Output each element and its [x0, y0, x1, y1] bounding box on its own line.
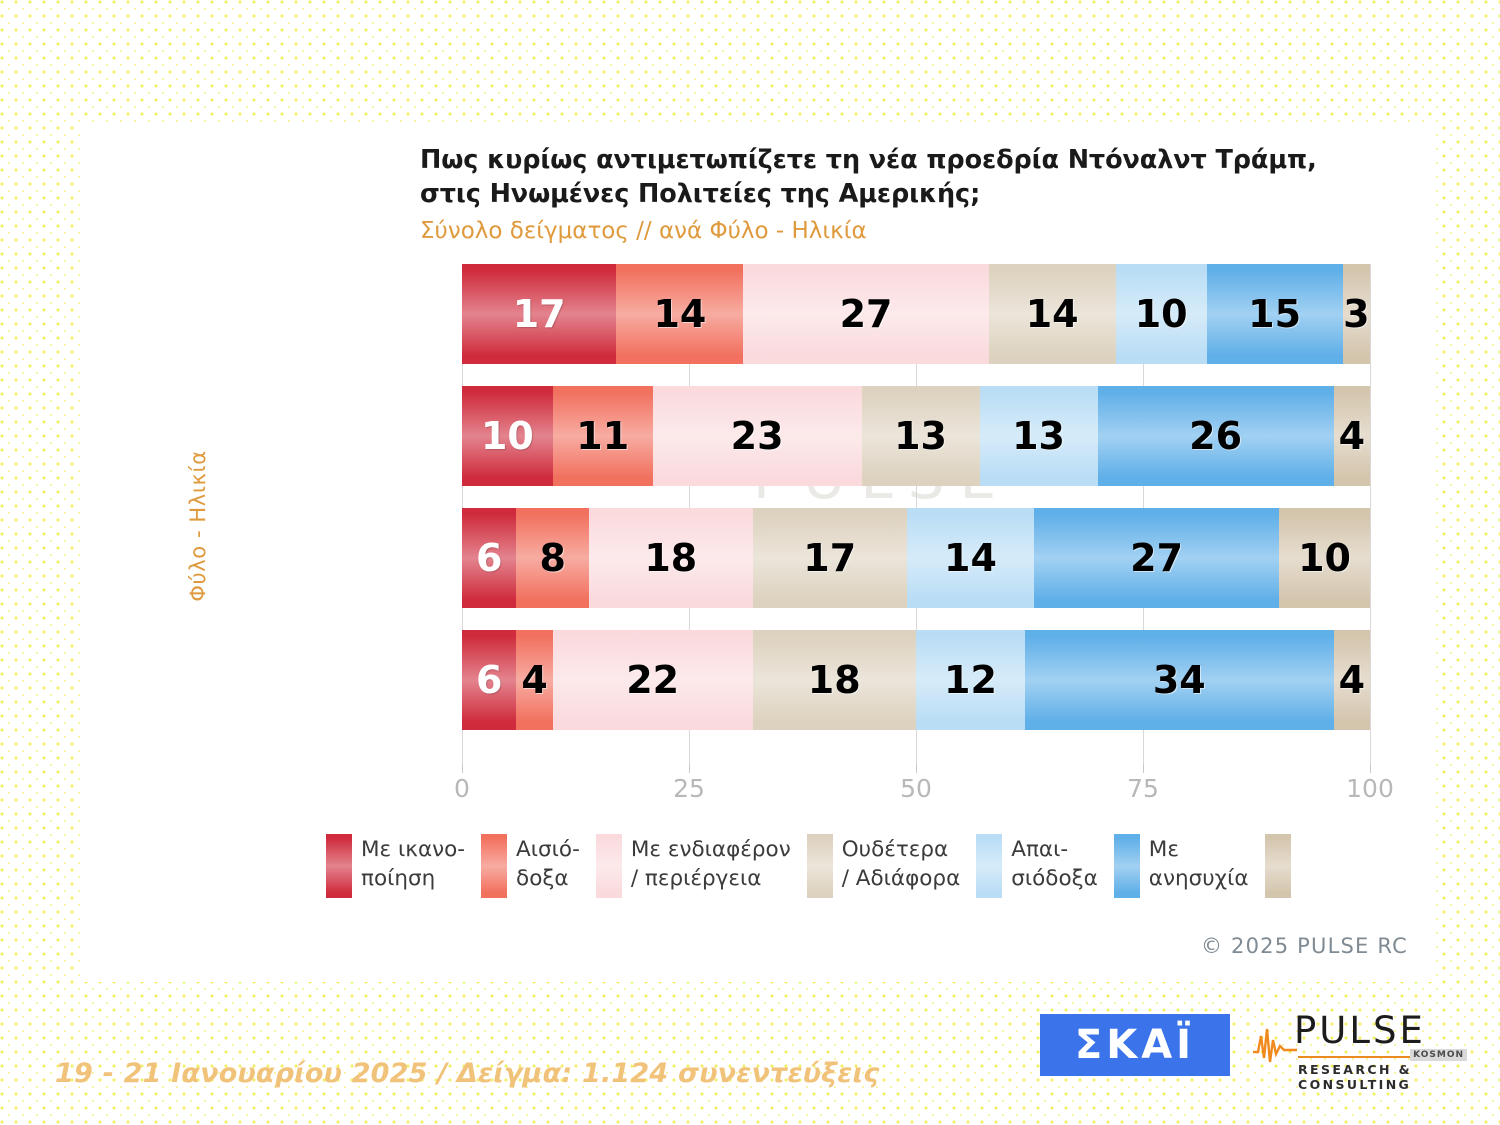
bar-segment[interactable]: 13	[862, 386, 980, 486]
bar-segment-value: 3	[1343, 295, 1369, 333]
legend-label: Ουδέτερα / Αδιάφορα	[842, 834, 961, 893]
gridline-100	[1370, 264, 1371, 764]
x-axis: 0255075100	[462, 764, 1370, 810]
bar-segment-value: 11	[576, 417, 629, 455]
bar-segment-value: 14	[944, 539, 997, 577]
bar-segment[interactable]: 4	[516, 630, 552, 730]
bar-segment[interactable]: 15	[1207, 264, 1343, 364]
bar-segment-value: 6	[476, 539, 502, 577]
bar-segment[interactable]: 10	[1279, 508, 1370, 608]
legend-item[interactable]	[1265, 834, 1300, 898]
bar-segment-value: 10	[1298, 539, 1351, 577]
legend-label: Με ικανο- ποίηση	[361, 834, 465, 893]
title-block: Πως κυρίως αντιμετωπίζετε τη νέα προεδρί…	[420, 144, 1340, 244]
legend-swatch	[326, 834, 352, 898]
x-axis-tick	[689, 764, 690, 773]
x-axis-tick-label: 100	[1346, 774, 1394, 803]
bar-segment-value: 17	[803, 539, 856, 577]
bar-segment-value: 4	[1339, 417, 1365, 455]
bar-segment-value: 8	[540, 539, 566, 577]
x-axis-tick	[1143, 764, 1144, 773]
bar-row: 1714271410153	[462, 264, 1370, 364]
bar-segment-value: 6	[476, 661, 502, 699]
legend-swatch	[1265, 834, 1291, 898]
x-axis-tick	[916, 764, 917, 773]
bar-segment-value: 10	[481, 417, 534, 455]
logo-row: ΣΚΑΪ PULSE KOSMON RESEARCH & CONSULTING	[1040, 1012, 1467, 1078]
legend-item[interactable]: Με ικανο- ποίηση	[326, 834, 465, 898]
pulse-waveform-icon	[1252, 1024, 1298, 1066]
bar-segment-value: 18	[808, 661, 861, 699]
x-axis-tick-label: 50	[900, 774, 932, 803]
pulse-logo-text: PULSE	[1294, 1012, 1426, 1049]
bar-segment[interactable]: 18	[753, 630, 916, 730]
bar-segment[interactable]: 4	[1334, 630, 1370, 730]
bar-segment[interactable]: 10	[462, 386, 553, 486]
bar-segment-value: 4	[1339, 661, 1365, 699]
chart-legend: Με ικανο- ποίησηΑισιό- δοξαΜε ενδιαφέρον…	[326, 834, 1316, 898]
x-axis-tick-label: 0	[454, 774, 470, 803]
bar-segment[interactable]: 13	[980, 386, 1098, 486]
bar-segment[interactable]: 4	[1334, 386, 1370, 486]
legend-item[interactable]: Απαι- σιόδοξα	[976, 834, 1098, 898]
bar-row: 64221812344	[462, 630, 1370, 730]
chart-subtitle: Σύνολο δείγματος // ανά Φύλο - Ηλικία	[420, 218, 1340, 244]
bar-segment[interactable]: 14	[989, 264, 1116, 364]
bar-segment-value: 4	[521, 661, 547, 699]
legend-label: Με ανησυχία	[1149, 834, 1249, 893]
legend-item[interactable]: Αισιό- δοξα	[481, 834, 580, 898]
bar-segment[interactable]: 27	[743, 264, 988, 364]
chart-title-line-2: στις Ηνωμένες Πολιτείες της Αμερικής;	[420, 178, 1340, 212]
legend-item[interactable]: Με ανησυχία	[1114, 834, 1249, 898]
bar-segment-value: 27	[840, 295, 893, 333]
bar-segment[interactable]: 17	[753, 508, 907, 608]
y-axis-title: Φύλο - Ηλικία	[186, 396, 210, 656]
stacked-bar-rows: 1714271410153101123131326468181714271064…	[462, 264, 1370, 764]
bar-row: 681817142710	[462, 508, 1370, 608]
bar-segment[interactable]: 18	[589, 508, 752, 608]
bar-segment[interactable]: 6	[462, 630, 516, 730]
skai-logo: ΣΚΑΪ	[1040, 1014, 1230, 1076]
bar-segment-value: 26	[1189, 417, 1242, 455]
bar-segment[interactable]: 3	[1343, 264, 1370, 364]
bar-segment[interactable]: 23	[653, 386, 862, 486]
bar-segment[interactable]: 27	[1034, 508, 1279, 608]
copyright-text: © 2025 PULSE RC	[1201, 934, 1408, 958]
pulse-tagline-text: RESEARCH & CONSULTING	[1298, 1062, 1467, 1092]
bar-segment[interactable]: 11	[553, 386, 653, 486]
bar-segment[interactable]: 14	[616, 264, 743, 364]
legend-label: Με ενδιαφέρον / περιέργεια	[631, 834, 791, 893]
bar-segment-value: 17	[513, 295, 566, 333]
bar-segment[interactable]: 6	[462, 508, 516, 608]
bar-segment[interactable]: 8	[516, 508, 589, 608]
skai-logo-text: ΣΚΑΪ	[1075, 1025, 1195, 1065]
legend-item[interactable]: Ουδέτερα / Αδιάφορα	[807, 834, 961, 898]
pulse-kosmon-text: KOSMON	[1410, 1049, 1467, 1061]
bar-segment[interactable]: 12	[916, 630, 1025, 730]
bar-segment-value: 13	[1012, 417, 1065, 455]
legend-label: Απαι- σιόδοξα	[1011, 834, 1098, 893]
bar-segment-value: 10	[1135, 295, 1188, 333]
x-axis-tick	[462, 764, 463, 773]
chart-title-line-1: Πως κυρίως αντιμετωπίζετε τη νέα προεδρί…	[420, 144, 1340, 178]
x-axis-tick-label: 25	[673, 774, 705, 803]
legend-swatch	[596, 834, 622, 898]
bar-segment-value: 23	[731, 417, 784, 455]
pulse-logo: PULSE KOSMON RESEARCH & CONSULTING	[1252, 1012, 1467, 1078]
bar-segment-value: 12	[944, 661, 997, 699]
bar-segment[interactable]: 34	[1025, 630, 1334, 730]
bar-segment[interactable]: 10	[1116, 264, 1207, 364]
bar-segment-value: 13	[894, 417, 947, 455]
bar-segment-value: 14	[1026, 295, 1079, 333]
x-axis-tick	[1370, 764, 1371, 773]
legend-swatch	[976, 834, 1002, 898]
legend-swatch	[481, 834, 507, 898]
legend-swatch	[1114, 834, 1140, 898]
bar-segment[interactable]: 17	[462, 264, 616, 364]
legend-item[interactable]: Με ενδιαφέρον / περιέργεια	[596, 834, 791, 898]
plot-area: PULSE RESEARCH & CONSULTING 171427141015…	[462, 264, 1370, 764]
legend-swatch	[807, 834, 833, 898]
footer-fieldwork-date: 19 - 21 Ιανουαρίου 2025 / Δείγμα: 1.124 …	[55, 1058, 879, 1089]
bar-segment-value: 14	[653, 295, 706, 333]
x-axis-tick-label: 75	[1127, 774, 1159, 803]
bar-segment[interactable]: 26	[1098, 386, 1334, 486]
bar-segment-value: 34	[1153, 661, 1206, 699]
bar-segment[interactable]: 22	[553, 630, 753, 730]
bar-segment[interactable]: 14	[907, 508, 1034, 608]
bar-segment-value: 27	[1130, 539, 1183, 577]
bar-segment-value: 15	[1248, 295, 1301, 333]
bar-row: 1011231313264	[462, 386, 1370, 486]
legend-label: Αισιό- δοξα	[516, 834, 580, 893]
bar-segment-value: 22	[626, 661, 679, 699]
chart-card: Πως κυρίως αντιμετωπίζετε τη νέα προεδρί…	[80, 124, 1432, 982]
bar-segment-value: 18	[644, 539, 697, 577]
